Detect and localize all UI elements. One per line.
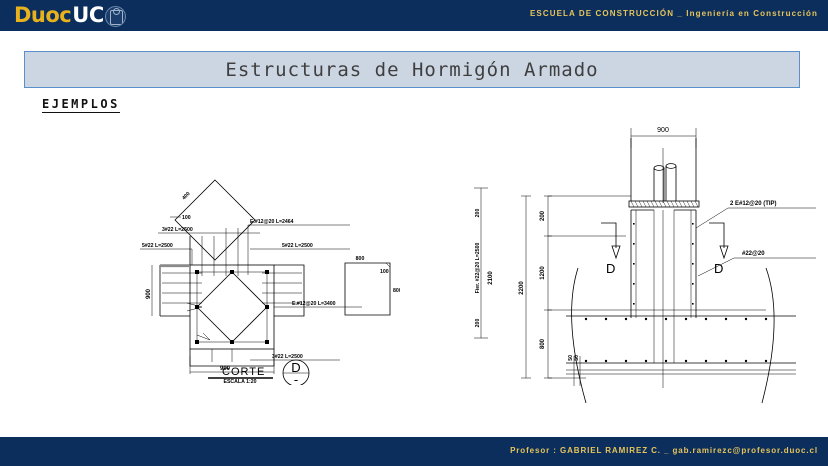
dim-sq-right: 800 [393,288,400,294]
section-heading: EJEMPLOS [42,97,120,113]
dim-50-b: 50 [574,355,580,361]
professor-contact: Profesor : GABRIEL RAMIREZ C. _ gab.rami… [510,446,818,455]
dim-900-top-label: 900 [657,127,669,134]
corte-title-block: CORTE ESCALA 1:20 D - [208,360,309,385]
dim-200-bottom: 200 [475,319,481,328]
scale-label: ESCALA 1:20 [224,379,257,385]
section-marker-left: D [601,223,620,276]
logo-uc-text: UC [72,5,103,26]
drawing-left-plan: 100 400 [140,170,400,385]
note-stirrup-text: 2 E#12@20 (TIP) [730,201,777,207]
dim-2200: 2200 [519,281,525,295]
svg-text:100: 100 [182,215,191,221]
label-left-bars: 5#22 L=2500 [142,243,173,249]
dim-chain-far-left: 200 Fier. #22@20 L=2500 200 2100 [474,188,494,338]
label-top-bars: 3#22 L=2500 [162,227,193,233]
plan-annotations: 3#22 L=2500 5#22 L=2500 E.#12@20 L=2464 … [140,219,362,374]
dim-200-left: 200 [475,209,481,218]
section-mark-right-d: D [714,261,723,276]
corte-label: CORTE [222,366,265,378]
slide: Duoc UC ESCUELA DE CONSTRUCCIÓN _ Ingeni… [0,0,828,466]
dim-2100: 2100 [488,271,494,285]
page-title: Estructuras de Hormigón Armado [225,59,598,81]
dim-chain-2200: 2200 [519,196,531,378]
diamond-detail: 100 400 [170,180,255,260]
section-mark-dash: - [294,372,298,385]
school-subtitle: ESCUELA DE CONSTRUCCIÓN _ Ingeniería en … [530,9,818,18]
label-right-bars: 5#22 L=2500 [282,243,313,249]
dim-1200: 1200 [540,266,546,280]
label-stirrup-right: E.#12@20 L=3400 [292,301,336,307]
duoc-uc-logo: Duoc UC [14,2,126,28]
square-detail: 800 100 800 [345,256,400,315]
note-bars-text: #22@20 [742,251,765,257]
footing-slab [566,268,796,403]
dim-height-900: 900 [146,288,152,299]
dim-900-top: 900 [631,127,696,148]
column-elevation [629,138,699,388]
svg-text:400: 400 [181,191,191,201]
duoc-seal-icon [105,6,126,27]
dim-800: 800 [540,338,546,349]
section-mark-left-d: D [606,261,615,276]
section-marker-right: D [709,223,728,276]
label-stirrup-top: E.#12@20 L=2464 [250,219,294,225]
logo-duoc-text: Duoc [14,5,71,26]
drawing-right-elevation: 200 Fier. #22@20 L=2500 200 2100 2200 20… [466,118,826,408]
note-vertical-bars: Fier. #22@20 L=2500 [475,243,481,294]
header-bar: Duoc UC ESCUELA DE CONSTRUCCIÓN _ Ingeni… [0,0,828,31]
note-stirrup: 2 E#12@20 (TIP) [696,201,816,228]
footer-bar: Profesor : GABRIEL RAMIREZ C. _ gab.rami… [0,437,828,466]
dim-sq-top: 800 [356,256,365,262]
slide-title-band: Estructuras de Hormigón Armado [24,51,800,88]
dim-200-top: 200 [540,210,546,221]
dim-sq-chamfer: 100 [380,269,389,275]
